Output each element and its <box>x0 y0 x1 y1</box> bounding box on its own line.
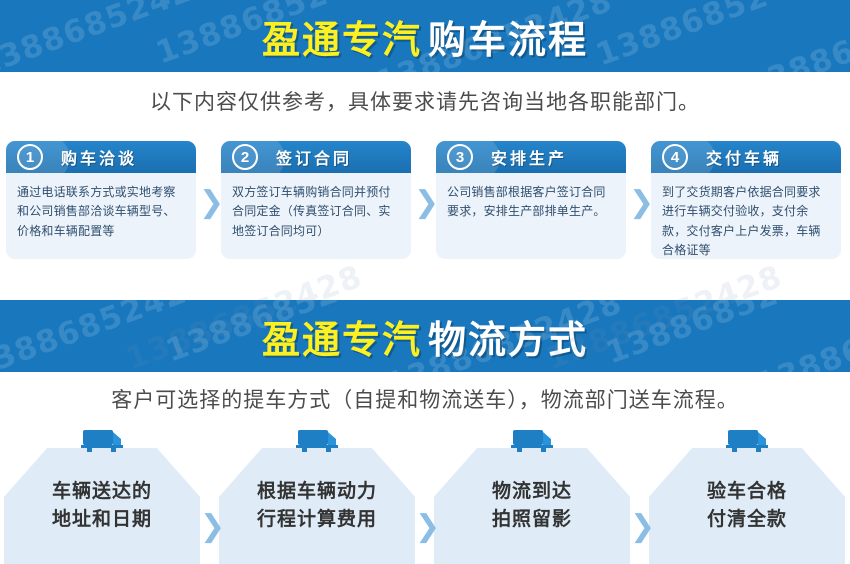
logistics-card-3-line2: 拍照留影 <box>492 506 572 535</box>
logistics-card-2-text: 根据车辆动力 行程计算费用 <box>219 448 415 564</box>
step-card-3-body: 公司销售部根据客户签订合同要求，安排生产部排单生产。 <box>436 173 626 259</box>
logistics-card-1-line1: 车辆送达的 <box>52 478 152 507</box>
chevron-right-icon: ❯ <box>415 512 440 542</box>
step-card-3[interactable]: 3 安排生产 公司销售部根据客户签订合同要求，安排生产部排单生产。 <box>436 141 626 259</box>
step-card-3-header: 3 安排生产 <box>436 141 626 173</box>
purchase-banner-title: 购车流程 <box>428 9 588 64</box>
chevron-right-icon: ❯ <box>199 188 224 218</box>
logistics-card-3[interactable]: 物流到达 拍照留影 <box>434 428 630 564</box>
logistics-cards: 车辆送达的 地址和日期 根据车辆动力 行程计算费用 <box>0 428 850 564</box>
step-card-1-body: 通过电话联系方式或实地考察和公司销售部洽谈车辆型号、价格和车辆配置等 <box>6 173 196 259</box>
step-card-2-header: 2 签订合同 <box>221 141 411 173</box>
purchase-banner: 13886852428 13886852428 13886852428 1388… <box>0 0 850 72</box>
purchase-subtitle: 以下内容仅供参考，具体要求请先咨询当地各职能部门。 <box>0 86 850 116</box>
step-card-4[interactable]: 4 交付车辆 到了交货期客户依据合同要求进行车辆交付验收，支付余款，交付客户上户… <box>651 141 841 259</box>
step-card-1-title: 购车洽谈 <box>61 141 137 173</box>
step-number-badge: 1 <box>17 144 43 170</box>
logistics-banner-brand: 盈通专汽 <box>262 309 422 364</box>
logistics-subtitle: 客户可选择的提车方式（自提和物流送车），物流部门送车流程。 <box>0 384 850 414</box>
step-card-3-title: 安排生产 <box>491 141 567 173</box>
logistics-card-4[interactable]: 验车合格 付清全款 <box>649 428 845 564</box>
step-card-1[interactable]: 1 购车洽谈 通过电话联系方式或实地考察和公司销售部洽谈车辆型号、价格和车辆配置… <box>6 141 196 259</box>
logistics-card-2-line2: 行程计算费用 <box>257 506 377 535</box>
step-number-badge: 4 <box>662 144 688 170</box>
logistics-card-1[interactable]: 车辆送达的 地址和日期 <box>4 428 200 564</box>
logistics-card-2-line1: 根据车辆动力 <box>257 478 377 507</box>
chevron-right-icon: ❯ <box>629 188 654 218</box>
logistics-banner-title: 物流方式 <box>428 309 588 364</box>
truck-icon <box>294 428 340 454</box>
logistics-card-1-text: 车辆送达的 地址和日期 <box>4 448 200 564</box>
step-card-2[interactable]: 2 签订合同 双方签订车辆购销合同并预付合同定金（传真签订合同、实地签订合同均可… <box>221 141 411 259</box>
step-number-badge: 3 <box>447 144 473 170</box>
logistics-card-2[interactable]: 根据车辆动力 行程计算费用 <box>219 428 415 564</box>
logistics-card-3-line1: 物流到达 <box>492 478 572 507</box>
step-card-4-header: 4 交付车辆 <box>651 141 841 173</box>
logistics-card-4-text: 验车合格 付清全款 <box>649 448 845 564</box>
truck-icon <box>79 428 125 454</box>
purchase-steps: 1 购车洽谈 通过电话联系方式或实地考察和公司销售部洽谈车辆型号、价格和车辆配置… <box>0 141 850 261</box>
step-card-4-title: 交付车辆 <box>706 141 782 173</box>
chevron-right-icon: ❯ <box>630 512 655 542</box>
step-number-badge: 2 <box>232 144 258 170</box>
truck-icon <box>509 428 555 454</box>
purchase-banner-brand: 盈通专汽 <box>262 9 422 64</box>
step-card-1-header: 1 购车洽谈 <box>6 141 196 173</box>
chevron-right-icon: ❯ <box>414 188 439 218</box>
logistics-banner: 13886852428 13886852428 13886852428 1388… <box>0 300 850 372</box>
step-card-2-title: 签订合同 <box>276 141 352 173</box>
infographic-page: 13886852428 13886852428 13886852428 1388… <box>0 0 850 564</box>
step-card-4-body: 到了交货期客户依据合同要求进行车辆交付验收，支付余款，交付客户上户发票，车辆合格… <box>651 173 841 259</box>
logistics-card-3-text: 物流到达 拍照留影 <box>434 448 630 564</box>
truck-icon <box>724 428 770 454</box>
logistics-card-4-line2: 付清全款 <box>707 506 787 535</box>
chevron-right-icon: ❯ <box>200 512 225 542</box>
step-card-2-body: 双方签订车辆购销合同并预付合同定金（传真签订合同、实地签订合同均可） <box>221 173 411 259</box>
logistics-card-4-line1: 验车合格 <box>707 478 787 507</box>
logistics-card-1-line2: 地址和日期 <box>52 506 152 535</box>
